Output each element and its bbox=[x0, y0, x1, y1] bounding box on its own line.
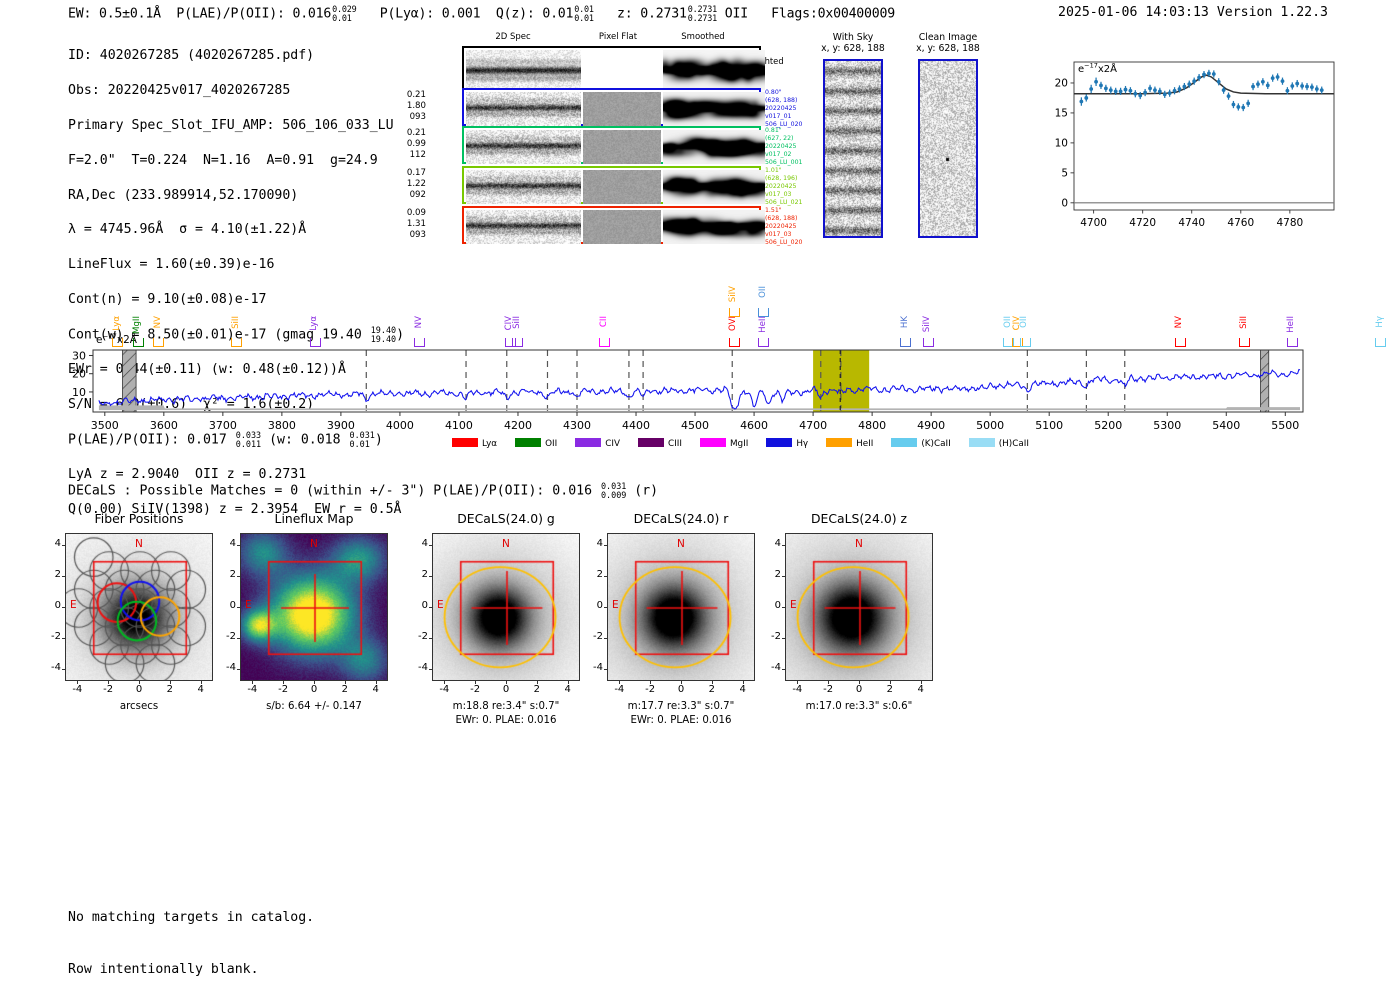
weighted-sum-row bbox=[462, 46, 761, 90]
panel-2-xtick: -4 bbox=[435, 684, 453, 695]
legend-item-kcaii: (K)CaII bbox=[891, 439, 950, 449]
panel-3-xtick: 2 bbox=[703, 684, 721, 695]
panel-4-ytick: 2 bbox=[763, 569, 781, 580]
header-z-range: 0.27310.2731 bbox=[688, 5, 717, 22]
panel-2-ytick: -2 bbox=[410, 631, 428, 642]
header-z-species: OII bbox=[725, 7, 748, 22]
info-radec: RA,Dec (233.989914,52.170090) bbox=[68, 187, 404, 204]
line-label-hk-13: HK bbox=[900, 316, 910, 328]
legend-item-ly: Lyα bbox=[452, 439, 497, 449]
panel-4-ytick-mark bbox=[782, 607, 785, 608]
panel-image-4 bbox=[785, 533, 933, 681]
panel-1-ytick-mark bbox=[237, 576, 240, 577]
line-label-oii-12: OII bbox=[758, 286, 768, 298]
col-header-smoothed: Smoothed bbox=[658, 32, 748, 42]
line-marker-bracket bbox=[512, 338, 523, 347]
compass-north-0: N bbox=[135, 538, 143, 550]
line-label-nv-2: NV bbox=[153, 316, 163, 328]
panel-3-ytick-mark bbox=[604, 669, 607, 670]
legend-item-mgii: MgII bbox=[700, 439, 748, 449]
svg-text:4600: 4600 bbox=[740, 419, 768, 432]
legend-label: (K)CaII bbox=[921, 439, 950, 449]
panel-title-0: Fiber Positions bbox=[37, 511, 241, 526]
cutout-title-text: Clean Image bbox=[888, 32, 1008, 43]
header-version: Version 1.22.3 bbox=[1217, 5, 1328, 20]
linefit-units-annotation: e−17x2Å bbox=[1078, 64, 1117, 75]
panel-title-1: Lineflux Map bbox=[212, 511, 416, 526]
panel-3-xtick: -2 bbox=[641, 684, 659, 695]
legend-item-ciii: CIII bbox=[638, 439, 682, 449]
panel-2-ytick: -4 bbox=[410, 662, 428, 673]
line-marker-bracket bbox=[414, 338, 425, 347]
panel-3-ytick-mark bbox=[604, 545, 607, 546]
panel-1-xtick-mark bbox=[252, 681, 253, 684]
panel-4-ytick-mark bbox=[782, 669, 785, 670]
line-label-siii-19: SiII bbox=[1239, 316, 1249, 329]
legend-swatch bbox=[700, 438, 726, 447]
header-flags: Flags:0x00400009 bbox=[771, 7, 895, 22]
svg-text:4740: 4740 bbox=[1178, 217, 1205, 229]
line-label-siii-3: SiII bbox=[231, 316, 241, 329]
legend-label: CIII bbox=[668, 439, 682, 449]
panel-0-xtick-mark bbox=[77, 681, 78, 684]
line-marker-bracket bbox=[599, 338, 610, 347]
panel-3-xtick-mark bbox=[619, 681, 620, 684]
fiber-row-3 bbox=[462, 206, 761, 244]
panel-2-xtick: 2 bbox=[528, 684, 546, 695]
panel-3-xtick: 0 bbox=[672, 684, 690, 695]
header-qz: Q(z): 0.01 bbox=[496, 7, 573, 22]
panel-1-ytick-mark bbox=[237, 545, 240, 546]
line-marker-bracket bbox=[923, 338, 934, 347]
legend-item-heii: HeII bbox=[826, 439, 873, 449]
line-label-hγ-21: Hγ bbox=[1375, 316, 1385, 328]
panel-image-1 bbox=[240, 533, 388, 681]
panel-0-ytick: 0 bbox=[43, 600, 61, 611]
cutout-image-0 bbox=[823, 59, 883, 238]
legend-label: OII bbox=[545, 439, 557, 449]
panel-4-xtick: 2 bbox=[881, 684, 899, 695]
panel-3-xtick: -4 bbox=[610, 684, 628, 695]
fiber-row-0-cell-2 bbox=[663, 92, 765, 126]
panel-4-xtick: 0 bbox=[850, 684, 868, 695]
fiber-row-0-left-labels: 0.211.80093 bbox=[396, 90, 426, 123]
footer-note: No matching targets in catalog. Row inte… bbox=[68, 874, 314, 996]
panel-1-ytick: -4 bbox=[218, 662, 236, 673]
svg-text:4760: 4760 bbox=[1227, 217, 1254, 229]
spectrum-legend: LyαOIICIVCIIIMgIIHγHeII(K)CaII(H)CaII bbox=[452, 438, 1047, 449]
panel-2-xtick-mark bbox=[475, 681, 476, 684]
panel-1-ytick: 2 bbox=[218, 569, 236, 580]
svg-text:4000: 4000 bbox=[386, 419, 414, 432]
fiber-row-1-cell-0 bbox=[466, 130, 581, 164]
panel-4-xtick-mark bbox=[921, 681, 922, 684]
svg-text:4720: 4720 bbox=[1129, 217, 1156, 229]
line-marker-bracket bbox=[1287, 338, 1298, 347]
fiber-row-3-right-labels: 1.51"(628, 188)20220425v017_03506_LU_020 bbox=[765, 207, 802, 247]
fiber-row-3-cell-1 bbox=[583, 210, 661, 244]
panel-4-xtick-mark bbox=[828, 681, 829, 684]
header-plae-range: 0.0290.01 bbox=[332, 5, 356, 22]
svg-text:3800: 3800 bbox=[268, 419, 296, 432]
panel-title-3: DECaLS(24.0) r bbox=[579, 511, 783, 526]
fiber-row-2 bbox=[462, 166, 761, 204]
weighted-sum-cell-1 bbox=[583, 50, 661, 90]
panel-3-ytick: 2 bbox=[585, 569, 603, 580]
panel-3-ytick-mark bbox=[604, 607, 607, 608]
fiber-row-0-cell-1 bbox=[583, 92, 661, 126]
panel-0-xtick: 0 bbox=[130, 684, 148, 695]
panel-0-ytick-mark bbox=[62, 638, 65, 639]
panel-title-4: DECaLS(24.0) z bbox=[757, 511, 961, 526]
legend-label: HeII bbox=[856, 439, 873, 449]
line-label-cii-8: CII bbox=[599, 316, 609, 327]
panel-4-ytick: -2 bbox=[763, 631, 781, 642]
svg-text:5100: 5100 bbox=[1035, 419, 1063, 432]
fiber-row-3-cell-0 bbox=[466, 210, 581, 244]
line-marker-bracket bbox=[1239, 338, 1250, 347]
fiber-row-3-left-labels: 0.091.31093 bbox=[396, 208, 426, 241]
panel-2-ytick-mark bbox=[429, 576, 432, 577]
fiber-row-1 bbox=[462, 126, 761, 164]
panel-3-xtick-mark bbox=[650, 681, 651, 684]
panel-4-xtick-mark bbox=[859, 681, 860, 684]
panel-4-ytick: 4 bbox=[763, 538, 781, 549]
svg-text:4800: 4800 bbox=[858, 419, 886, 432]
panel-0-ytick-mark bbox=[62, 545, 65, 546]
panel-4-ytick: -4 bbox=[763, 662, 781, 673]
svg-text:4400: 4400 bbox=[622, 419, 650, 432]
panel-0-ytick-mark bbox=[62, 576, 65, 577]
legend-swatch bbox=[515, 438, 541, 447]
panel-3-xtick-mark bbox=[681, 681, 682, 684]
panel-title-2: DECaLS(24.0) g bbox=[404, 511, 608, 526]
panel-0-ytick: 4 bbox=[43, 538, 61, 549]
line-marker-bracket bbox=[729, 308, 740, 317]
line-label-heii-20: HeII bbox=[1286, 316, 1296, 333]
fiber-row-0-cell-0 bbox=[466, 92, 581, 126]
panel-0-xtick: 4 bbox=[192, 684, 210, 695]
panel-image-3 bbox=[607, 533, 755, 681]
line-marker-bracket bbox=[900, 338, 911, 347]
panel-4-ytick-mark bbox=[782, 638, 785, 639]
svg-text:5400: 5400 bbox=[1212, 419, 1240, 432]
line-marker-bracket bbox=[112, 338, 123, 347]
two-d-spectra-panel: 2D Spec Pixel Flat Smoothed Weighted Sum… bbox=[430, 32, 780, 247]
legend-item-hcaii: (H)CaII bbox=[969, 439, 1029, 449]
panel-0-xtick: 2 bbox=[161, 684, 179, 695]
line-marker-bracket bbox=[231, 338, 242, 347]
decals-plae-range: 0.0310.009 bbox=[601, 482, 626, 499]
svg-text:20: 20 bbox=[72, 368, 86, 381]
panel-0-ytick: -2 bbox=[43, 631, 61, 642]
svg-text:5000: 5000 bbox=[976, 419, 1004, 432]
panel-caption2-3: EWr: 0. PLAE: 0.016 bbox=[577, 714, 785, 727]
header-qz-range: 0.010.01 bbox=[574, 5, 594, 22]
panel-1-xtick: -2 bbox=[274, 684, 292, 695]
footer-line-2: Row intentionally blank. bbox=[68, 961, 314, 978]
panel-1-xtick: 2 bbox=[336, 684, 354, 695]
line-marker-bracket bbox=[1375, 338, 1386, 347]
svg-text:4200: 4200 bbox=[504, 419, 532, 432]
panel-1-xtick-mark bbox=[283, 681, 284, 684]
panel-2-ytick-mark bbox=[429, 607, 432, 608]
footer-line-1: No matching targets in catalog. bbox=[68, 909, 314, 926]
panel-2-xtick: 4 bbox=[559, 684, 577, 695]
fiber-row-1-right-labels: 0.81"(627, 22)20220425v017_02506_LU_001 bbox=[765, 127, 802, 167]
compass-east-2: E bbox=[437, 599, 444, 611]
line-fit-plot: 0510152047004720474047604780e−17x2Å bbox=[1040, 50, 1340, 240]
svg-text:0: 0 bbox=[1061, 197, 1068, 209]
panel-4-xtick-mark bbox=[797, 681, 798, 684]
compass-north-1: N bbox=[310, 538, 318, 550]
header-plae-label: P(LAE)/P(OII): 0.016 bbox=[176, 7, 331, 22]
panel-1-ytick-mark bbox=[237, 607, 240, 608]
panel-3-ytick-mark bbox=[604, 638, 607, 639]
panel-0-ytick: 2 bbox=[43, 569, 61, 580]
panel-2-xtick-mark bbox=[506, 681, 507, 684]
line-label-nv-5: NV bbox=[414, 316, 424, 328]
panel-2-xtick: -2 bbox=[466, 684, 484, 695]
fiber-row-3-cell-2 bbox=[663, 210, 765, 244]
compass-east-1: E bbox=[245, 599, 252, 611]
panel-3-ytick: -4 bbox=[585, 662, 603, 673]
panel-3-ytick: -2 bbox=[585, 631, 603, 642]
legend-label: Lyα bbox=[482, 439, 497, 449]
line-label-siiv-10: SiIV bbox=[728, 286, 738, 302]
panel-4-ytick: 0 bbox=[763, 600, 781, 611]
legend-swatch bbox=[452, 438, 478, 447]
legend-swatch bbox=[638, 438, 664, 447]
line-label-oii-17: OII bbox=[1019, 316, 1029, 328]
legend-label: MgII bbox=[730, 439, 748, 449]
panel-3-ytick: 4 bbox=[585, 538, 603, 549]
svg-text:5500: 5500 bbox=[1271, 419, 1299, 432]
legend-swatch bbox=[575, 438, 601, 447]
panel-caption1-1: s/b: 6.64 +/- 0.147 bbox=[210, 700, 418, 713]
panel-0-xtick: -4 bbox=[68, 684, 86, 695]
svg-text:4900: 4900 bbox=[917, 419, 945, 432]
line-marker-bracket bbox=[1020, 338, 1031, 347]
panel-1-ytick: 4 bbox=[218, 538, 236, 549]
panel-1-xtick: -4 bbox=[243, 684, 261, 695]
fiber-row-0 bbox=[462, 88, 761, 126]
panel-image-2 bbox=[432, 533, 580, 681]
legend-swatch bbox=[766, 438, 792, 447]
svg-text:4700: 4700 bbox=[799, 419, 827, 432]
info-lambda: λ = 4745.96Å σ = 4.10(±1.22)Å bbox=[68, 221, 404, 238]
fiber-row-2-right-labels: 1.01"(628, 196)20220425v017_03506_LU_021 bbox=[765, 167, 802, 207]
panel-0-ytick-mark bbox=[62, 607, 65, 608]
header-plya: P(Lyα): 0.001 bbox=[380, 7, 481, 22]
fiber-row-2-cell-0 bbox=[466, 170, 581, 204]
panel-2-xtick-mark bbox=[537, 681, 538, 684]
svg-text:4500: 4500 bbox=[681, 419, 709, 432]
panel-0-xtick-mark bbox=[108, 681, 109, 684]
legend-item-civ: CIV bbox=[575, 439, 620, 449]
panel-3-xtick-mark bbox=[712, 681, 713, 684]
fiber-row-2-cell-2 bbox=[663, 170, 765, 204]
compass-east-3: E bbox=[612, 599, 619, 611]
line-label-ovi-9: OVI bbox=[728, 316, 738, 331]
panel-1-ytick-mark bbox=[237, 638, 240, 639]
col-header-2dspec: 2D Spec bbox=[458, 32, 568, 42]
panel-2-ytick-mark bbox=[429, 638, 432, 639]
panel-2-xtick: 0 bbox=[497, 684, 515, 695]
panel-4-ytick-mark bbox=[782, 576, 785, 577]
fiber-row-0-right-labels: 0.80"(628, 188)20220425v017_01506_LU_020 bbox=[765, 89, 802, 129]
legend-swatch bbox=[969, 438, 995, 447]
line-label-nv-18: NV bbox=[1174, 316, 1184, 328]
panel-0-ytick-mark bbox=[62, 669, 65, 670]
compass-north-3: N bbox=[677, 538, 685, 550]
panel-4-xtick: -2 bbox=[819, 684, 837, 695]
panel-2-ytick-mark bbox=[429, 545, 432, 546]
svg-text:20: 20 bbox=[1055, 78, 1068, 90]
legend-swatch bbox=[826, 438, 852, 447]
svg-text:3700: 3700 bbox=[209, 419, 237, 432]
header-datetime: 2025-01-06 14:03:13 bbox=[1058, 5, 1209, 20]
svg-text:4700: 4700 bbox=[1080, 217, 1107, 229]
panel-caption1-4: m:17.0 re:3.3" s:0.6" bbox=[755, 700, 963, 713]
svg-text:3900: 3900 bbox=[327, 419, 355, 432]
cutout-coords: x, y: 628, 188 bbox=[888, 43, 1008, 54]
info-id: ID: 4020267285 (4020267285.pdf) bbox=[68, 47, 404, 64]
header-meta: 2025-01-06 14:03:13 Version 1.22.3 bbox=[1058, 5, 1328, 20]
legend-label: Hγ bbox=[796, 439, 808, 449]
weighted-sum-cell-0 bbox=[466, 50, 581, 90]
line-marker-bracket bbox=[133, 338, 144, 347]
weighted-sum-cell-2 bbox=[663, 50, 765, 90]
panel-0-xtick-mark bbox=[201, 681, 202, 684]
svg-text:4100: 4100 bbox=[445, 419, 473, 432]
panel-4-xtick-mark bbox=[890, 681, 891, 684]
cutout-title-1: Clean Imagex, y: 628, 188 bbox=[888, 32, 1008, 55]
panel-1-xtick-mark bbox=[314, 681, 315, 684]
line-label-siiv-14: SiIV bbox=[922, 316, 932, 332]
info-primary-spec: Primary Spec_Slot_IFU_AMP: 506_106_033_L… bbox=[68, 117, 404, 134]
panel-4-xtick: -4 bbox=[788, 684, 806, 695]
fiber-row-2-left-labels: 0.171.22092 bbox=[396, 168, 426, 201]
panel-4-xtick: 4 bbox=[912, 684, 930, 695]
col-header-pixelflat: Pixel Flat bbox=[578, 32, 658, 42]
panel-1-xtick: 4 bbox=[367, 684, 385, 695]
line-label-heii-11: HeII bbox=[758, 316, 768, 333]
line-marker-bracket bbox=[1175, 338, 1186, 347]
panel-caption1-3: m:17.7 re:3.3" s:0.7" bbox=[577, 700, 785, 713]
line-marker-bracket bbox=[153, 338, 164, 347]
compass-north-4: N bbox=[855, 538, 863, 550]
decals-match-line: DECaLS : Possible Matches = 0 (within +/… bbox=[68, 482, 658, 499]
panel-1-ytick-mark bbox=[237, 669, 240, 670]
line-marker-bracket bbox=[758, 338, 769, 347]
panel-1-xtick-mark bbox=[345, 681, 346, 684]
svg-text:30: 30 bbox=[72, 349, 86, 362]
line-label-siii-7: SiII bbox=[512, 316, 522, 329]
svg-text:5300: 5300 bbox=[1153, 419, 1181, 432]
panel-3-ytick: 0 bbox=[585, 600, 603, 611]
fiber-row-1-left-labels: 0.210.99112 bbox=[396, 128, 426, 161]
panel-2-ytick: 0 bbox=[410, 600, 428, 611]
fiber-row-1-cell-1 bbox=[583, 130, 661, 164]
line-marker-bracket bbox=[310, 338, 321, 347]
panel-1-ytick: -2 bbox=[218, 631, 236, 642]
cutout-image-1 bbox=[918, 59, 978, 238]
line-label-lyα-0: Lyα bbox=[112, 316, 122, 331]
svg-text:3500: 3500 bbox=[91, 419, 119, 432]
legend-item-oii: OII bbox=[515, 439, 557, 449]
panel-2-xtick-mark bbox=[568, 681, 569, 684]
fiber-row-2-cell-1 bbox=[583, 170, 661, 204]
panel-0-ytick: -4 bbox=[43, 662, 61, 673]
full-spectrum-plot: 3500360037003800390040004100420043004400… bbox=[0, 262, 1400, 472]
svg-text:4780: 4780 bbox=[1276, 217, 1303, 229]
svg-text:5: 5 bbox=[1061, 167, 1068, 179]
panel-1-ytick: 0 bbox=[218, 600, 236, 611]
line-marker-bracket bbox=[729, 338, 740, 347]
panel-image-0 bbox=[65, 533, 213, 681]
panel-0-xtick: -2 bbox=[99, 684, 117, 695]
panel-1-xtick-mark bbox=[376, 681, 377, 684]
panel-3-xtick-mark bbox=[743, 681, 744, 684]
panel-3-ytick-mark bbox=[604, 576, 607, 577]
svg-text:3600: 3600 bbox=[150, 419, 178, 432]
svg-text:10: 10 bbox=[72, 386, 86, 399]
legend-swatch bbox=[891, 438, 917, 447]
svg-text:10: 10 bbox=[1055, 137, 1068, 149]
svg-text:4300: 4300 bbox=[563, 419, 591, 432]
header-ew: EW: 0.5±0.1Å bbox=[68, 7, 161, 22]
panel-3-xtick: 4 bbox=[734, 684, 752, 695]
line-label-lyα-4: Lyα bbox=[309, 316, 319, 331]
legend-label: CIV bbox=[605, 439, 620, 449]
line-marker-bracket bbox=[758, 308, 769, 317]
svg-text:15: 15 bbox=[1055, 108, 1068, 120]
header-z: z: 0.2731 bbox=[617, 7, 687, 22]
panel-2-ytick: 4 bbox=[410, 538, 428, 549]
panel-1-xtick: 0 bbox=[305, 684, 323, 695]
compass-east-4: E bbox=[790, 599, 797, 611]
panel-2-ytick: 2 bbox=[410, 569, 428, 580]
legend-item-h: Hγ bbox=[766, 439, 808, 449]
compass-east-0: E bbox=[70, 599, 77, 611]
panel-4-ytick-mark bbox=[782, 545, 785, 546]
header-summary: EW: 0.5±0.1Å P(LAE)/P(OII): 0.0160.0290.… bbox=[68, 5, 895, 22]
info-obs: Obs: 20220425v017_4020267285 bbox=[68, 82, 404, 99]
info-seeing: F=2.0" T=0.224 N=1.16 A=0.91 g=24.9 bbox=[68, 152, 404, 169]
line-label-mgii-1: MgII bbox=[132, 316, 142, 334]
fiber-row-1-cell-2 bbox=[663, 130, 765, 164]
panel-2-xtick-mark bbox=[444, 681, 445, 684]
panel-0-xtick-mark bbox=[170, 681, 171, 684]
legend-label: (H)CaII bbox=[999, 439, 1029, 449]
panel-0-xtick-mark bbox=[139, 681, 140, 684]
panel-2-ytick-mark bbox=[429, 669, 432, 670]
svg-text:5200: 5200 bbox=[1094, 419, 1122, 432]
compass-north-2: N bbox=[502, 538, 510, 550]
